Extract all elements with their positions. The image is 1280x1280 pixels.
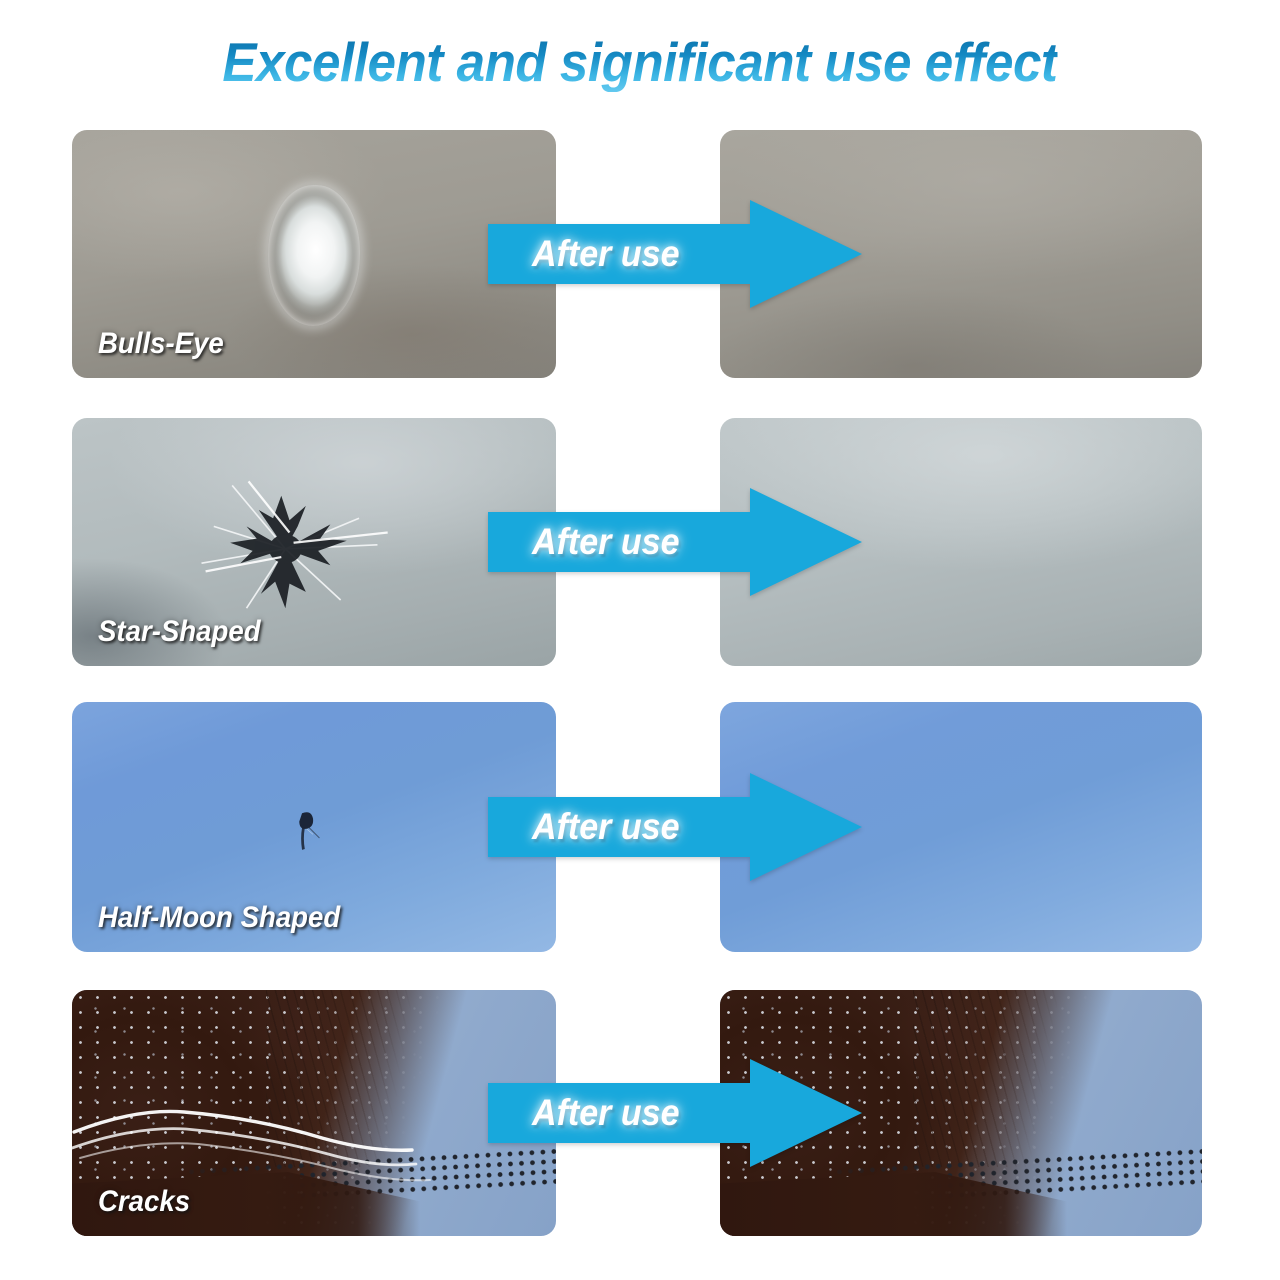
row-label: Half-Moon Shaped xyxy=(98,901,340,935)
row-label: Star-Shaped xyxy=(98,615,261,649)
comparison-row-bulls-eye: Bulls-Eye After use xyxy=(0,130,1280,378)
before-photo-star-shaped: Star-Shaped xyxy=(72,418,556,666)
before-photo-half-moon: Half-Moon Shaped xyxy=(72,702,556,952)
comparison-row-half-moon: Half-Moon Shaped After use xyxy=(0,702,1280,952)
before-photo-bulls-eye: Bulls-Eye xyxy=(72,130,556,378)
after-use-arrow: After use xyxy=(488,773,862,881)
bulls-eye-damage-graphic xyxy=(268,185,360,326)
after-use-arrow: After use xyxy=(488,200,862,308)
tree-branches xyxy=(913,990,1058,1167)
half-moon-chip-damage-graphic xyxy=(280,805,333,860)
comparison-row-star-shaped: Star-Shaped After use xyxy=(0,418,1280,666)
title-bar: Excellent and significant use effect xyxy=(0,32,1280,92)
after-use-arrow: After use xyxy=(488,488,862,596)
star-crack-damage-graphic xyxy=(183,465,396,629)
row-label: Bulls-Eye xyxy=(98,327,224,361)
before-photo-cracks: Cracks xyxy=(72,990,556,1236)
arrow-right-icon xyxy=(488,488,862,596)
arrow-right-icon xyxy=(488,773,862,881)
row-label: Cracks xyxy=(98,1185,190,1219)
page-title: Excellent and significant use effect xyxy=(222,32,1057,92)
comparison-row-cracks: Cracks After use xyxy=(0,990,1280,1236)
arrow-right-icon xyxy=(488,1059,862,1167)
after-use-arrow: After use xyxy=(488,1059,862,1167)
arrow-right-icon xyxy=(488,200,862,308)
